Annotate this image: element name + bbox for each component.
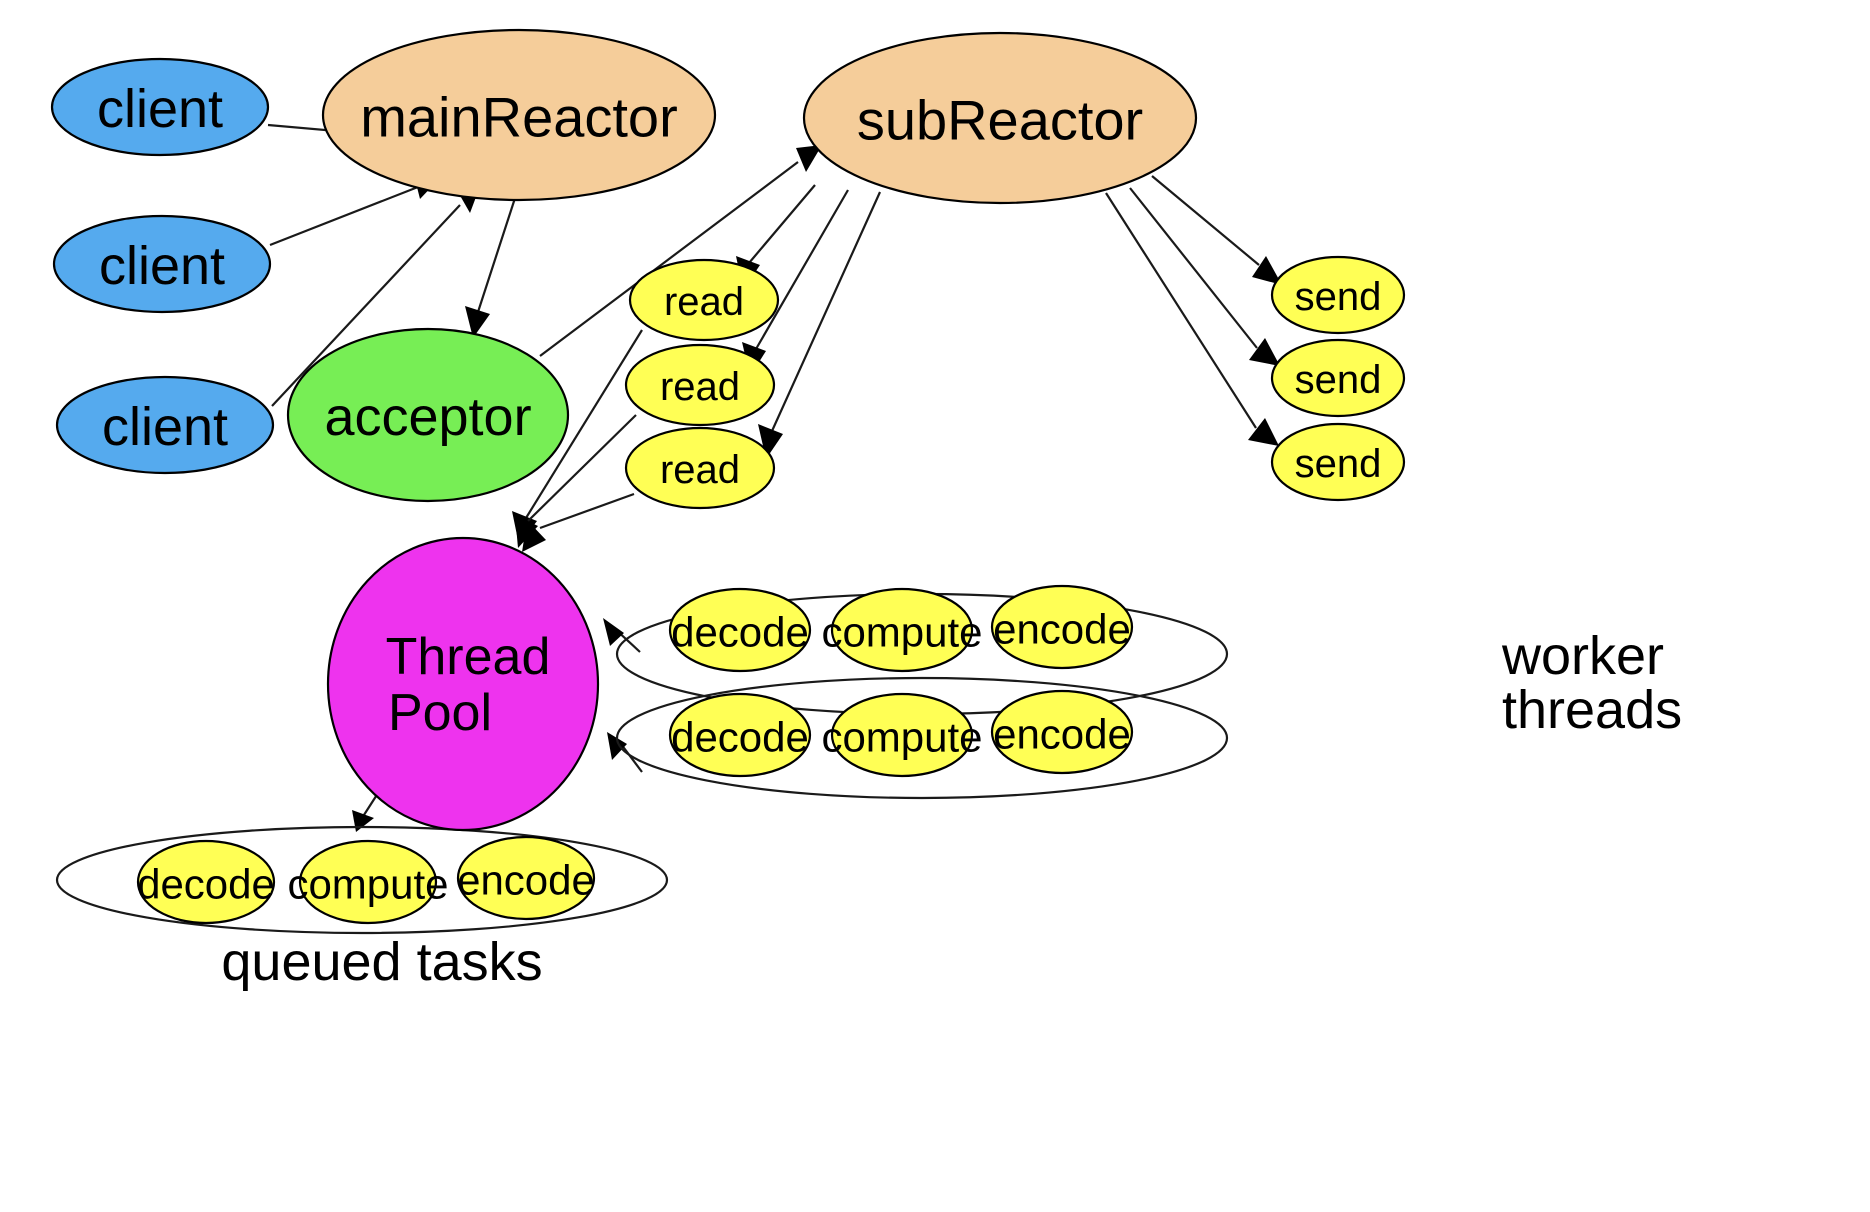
- node-main-reactor[interactable]: mainReactor: [323, 30, 715, 200]
- node-send-2[interactable]: send: [1272, 340, 1404, 416]
- task-encode-w1-label: encode: [993, 606, 1131, 653]
- node-thread-pool[interactable]: Thread Pool: [328, 538, 598, 830]
- read-3-label: read: [660, 448, 740, 492]
- task-decode-w1-label: decode: [671, 609, 809, 656]
- edge-subreactor-to-send1: [1152, 176, 1282, 285]
- worker-thread-1-tasks: decode compute encode: [670, 586, 1132, 671]
- task-encode-queued[interactable]: encode: [457, 837, 595, 919]
- send-1-label: send: [1295, 275, 1382, 319]
- task-decode-queued-label: decode: [137, 861, 275, 908]
- task-encode-w2-label: encode: [993, 711, 1131, 758]
- task-compute-w2[interactable]: compute: [821, 694, 982, 776]
- queued-tasks-items: decode compute encode: [137, 837, 595, 923]
- reactor-diagram: client client client mainReactor subReac…: [0, 0, 1870, 1212]
- read-1-label: read: [664, 280, 744, 324]
- edge-subreactor-to-send3: [1106, 193, 1279, 446]
- node-send-1[interactable]: send: [1272, 257, 1404, 333]
- node-sub-reactor[interactable]: subReactor: [804, 33, 1196, 203]
- task-compute-queued-label: compute: [287, 861, 448, 908]
- nodes-layer: client client client mainReactor subReac…: [52, 30, 1404, 923]
- task-decode-w2-label: decode: [671, 714, 809, 761]
- task-decode-w1[interactable]: decode: [670, 589, 810, 671]
- send-2-label: send: [1295, 358, 1382, 402]
- thread-pool-label-line-1: Thread: [386, 628, 551, 686]
- client-3-label: client: [102, 397, 228, 457]
- thread-pool-label-line-2: Pool: [388, 684, 492, 742]
- edge-mainreactor-to-acceptor: [465, 195, 516, 338]
- worker-thread-2-tasks: decode compute encode: [670, 691, 1132, 776]
- read-2-label: read: [660, 365, 740, 409]
- node-read-2[interactable]: read: [626, 345, 774, 425]
- task-decode-w2[interactable]: decode: [670, 694, 810, 776]
- node-acceptor[interactable]: acceptor: [288, 329, 568, 501]
- node-read-3[interactable]: read: [626, 428, 774, 508]
- acceptor-label: acceptor: [324, 387, 531, 447]
- client-1-label: client: [97, 79, 223, 139]
- node-read-1[interactable]: read: [630, 260, 778, 340]
- sub-reactor-label: subReactor: [857, 89, 1143, 152]
- client-2-label: client: [99, 236, 225, 296]
- main-reactor-label: mainReactor: [360, 86, 677, 149]
- worker-threads-caption-line-2: threads: [1502, 680, 1682, 740]
- task-encode-queued-label: encode: [457, 857, 595, 904]
- task-compute-queued[interactable]: compute: [287, 841, 448, 923]
- task-compute-w1[interactable]: compute: [821, 589, 982, 671]
- node-client-1[interactable]: client: [52, 59, 268, 155]
- node-client-2[interactable]: client: [54, 216, 270, 312]
- task-compute-w2-label: compute: [821, 714, 982, 761]
- queued-tasks-caption: queued tasks: [221, 932, 542, 992]
- task-compute-w1-label: compute: [821, 609, 982, 656]
- diagram-canvas: client client client mainReactor subReac…: [0, 0, 1870, 1212]
- edge-read3-to-threadpool: [522, 494, 634, 552]
- send-3-label: send: [1295, 442, 1382, 486]
- task-decode-queued[interactable]: decode: [137, 841, 275, 923]
- worker-threads-caption-line-1: worker: [1501, 626, 1664, 686]
- node-send-3[interactable]: send: [1272, 424, 1404, 500]
- task-encode-w1[interactable]: encode: [992, 586, 1132, 668]
- task-encode-w2[interactable]: encode: [992, 691, 1132, 773]
- node-client-3[interactable]: client: [57, 377, 273, 473]
